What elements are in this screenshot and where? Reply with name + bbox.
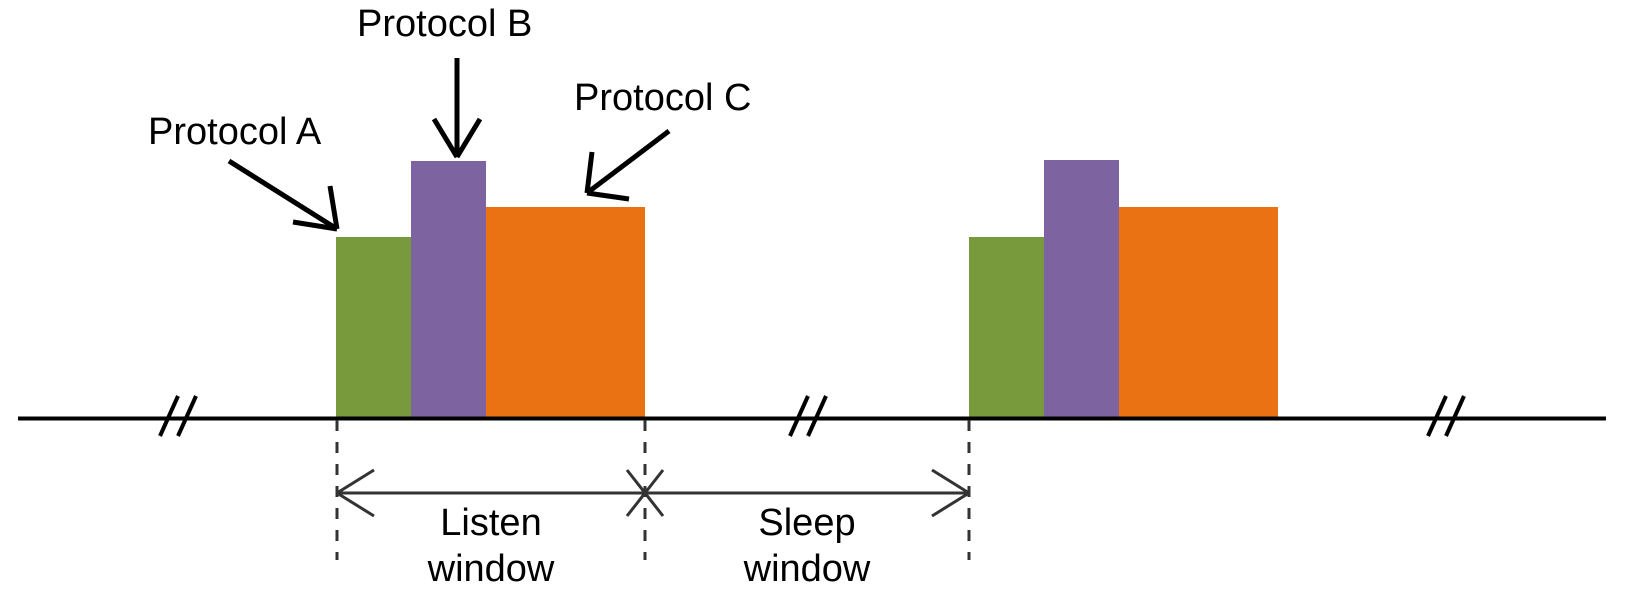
protocol-b-annotation-arrow xyxy=(434,58,480,157)
protocol-c-annotation-arrow xyxy=(587,131,669,199)
protocol-c-label: Protocol C xyxy=(574,76,751,120)
sleep-window-label-line2: window xyxy=(645,546,969,592)
sleep-window-label-line1: Sleep xyxy=(645,500,969,546)
protocol-a-bar xyxy=(969,237,1044,418)
listen-window-label-line1: Listen xyxy=(337,500,645,546)
axis-break-mark-left xyxy=(160,396,196,436)
protocol-a-annotation-arrow xyxy=(229,161,337,229)
protocol-a-bar xyxy=(336,237,411,418)
protocol-c-bar xyxy=(1119,207,1278,418)
protocol-b-label: Protocol B xyxy=(357,2,532,46)
protocol-a-label: Protocol A xyxy=(148,110,321,154)
axis-break-mark-middle xyxy=(790,396,826,436)
protocol-c-bar xyxy=(486,207,645,418)
listen-window-label: Listen window xyxy=(337,500,645,592)
sleep-window-label: Sleep window xyxy=(645,500,969,592)
protocol-b-bar xyxy=(1044,160,1119,418)
protocol-b-bar xyxy=(411,161,486,418)
diagram-canvas: Protocol A Protocol B Protocol C Listen … xyxy=(0,0,1626,610)
axis-break-mark-right xyxy=(1428,396,1464,436)
listen-window-label-line2: window xyxy=(337,546,645,592)
